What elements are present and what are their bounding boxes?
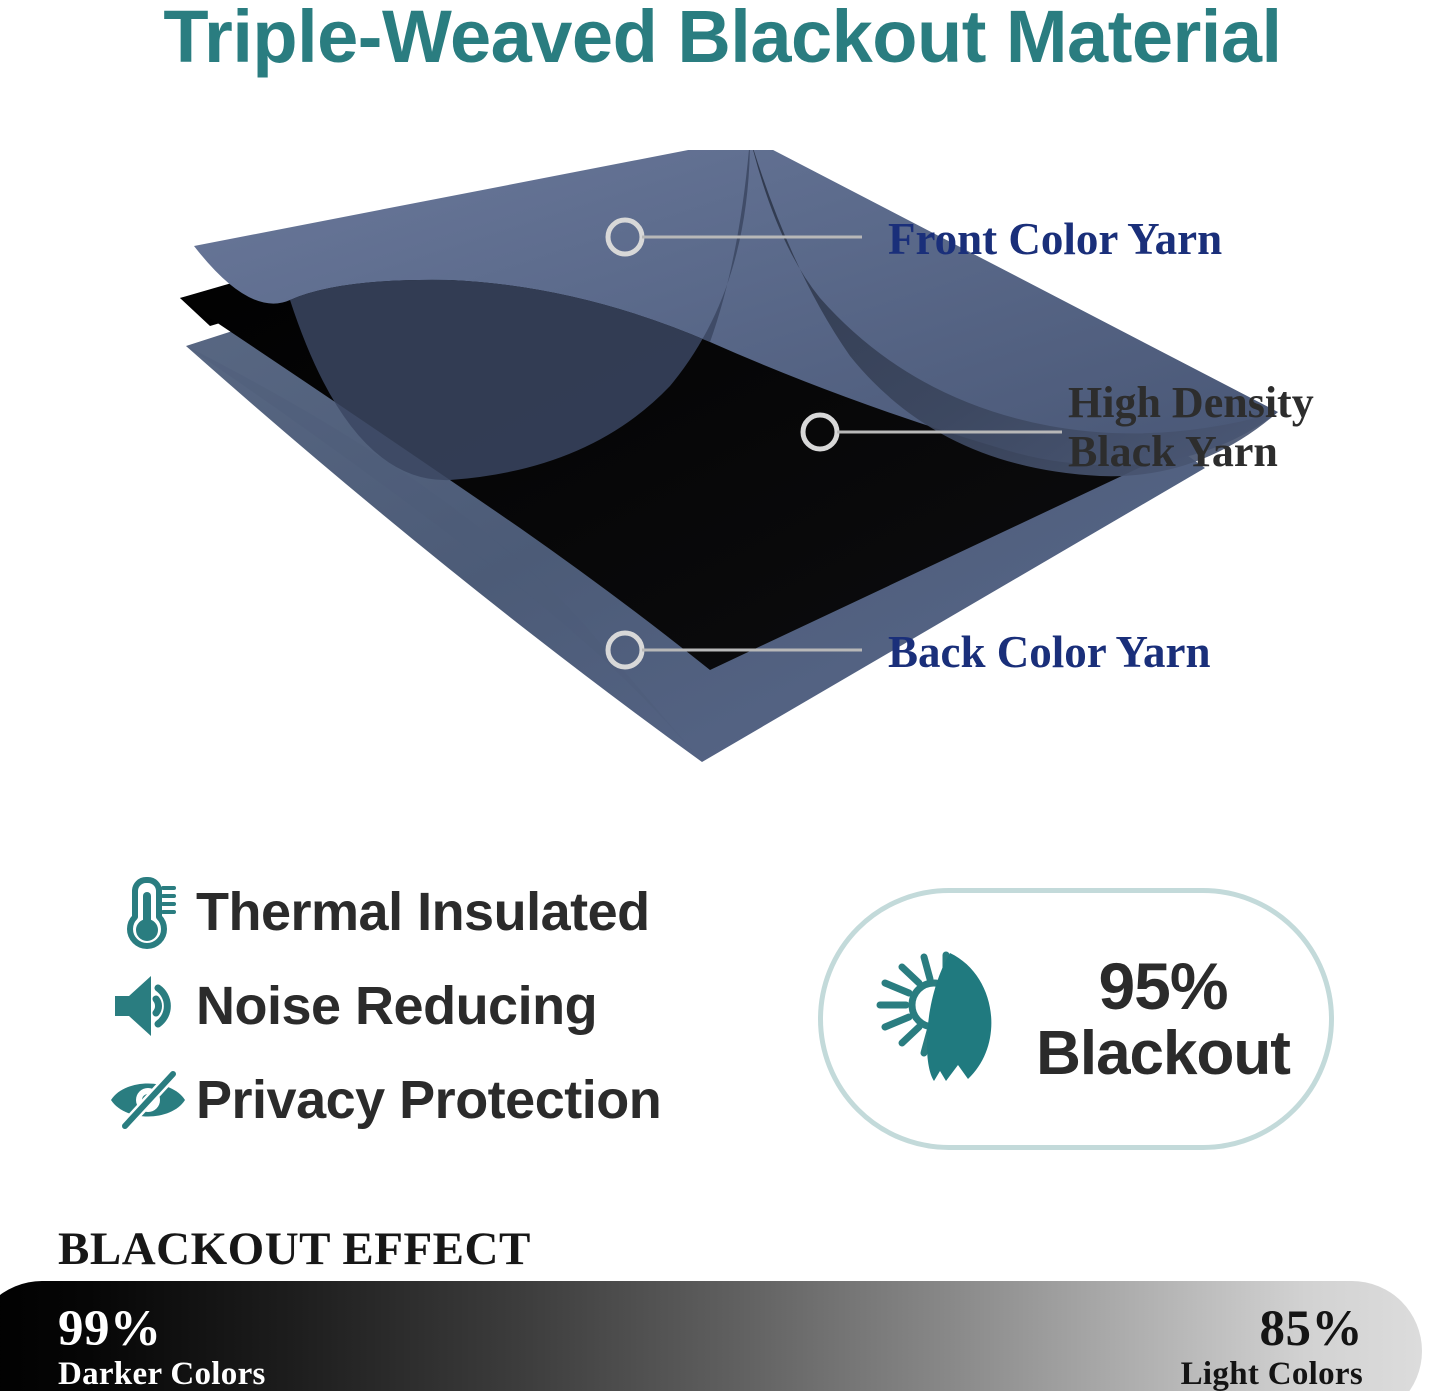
feature-label: Privacy Protection xyxy=(196,1069,661,1131)
blackout-effect-heading: BLACKOUT EFFECT xyxy=(58,1222,531,1276)
eye-off-icon xyxy=(100,1068,196,1132)
feature-privacy-protection: Privacy Protection xyxy=(100,1056,780,1144)
badge-percent: 95% xyxy=(1098,952,1227,1021)
feature-label: Thermal Insulated xyxy=(196,881,650,943)
badge-text-group: 95% Blackout xyxy=(1036,952,1290,1086)
feature-label: Noise Reducing xyxy=(196,975,597,1037)
blackout-effect-darker-colors: 99% Darker Colors xyxy=(58,1302,266,1391)
speaker-sound-icon xyxy=(100,974,196,1038)
label-line-2: Black Yarn xyxy=(1068,427,1314,476)
infographic-page: Triple-Weaved Blackout Material xyxy=(0,0,1445,1391)
darker-colors-label: Darker Colors xyxy=(58,1356,266,1391)
light-colors-percent: 85% xyxy=(1181,1302,1363,1356)
badge-word: Blackout xyxy=(1036,1021,1290,1086)
page-title: Triple-Weaved Blackout Material xyxy=(0,0,1445,77)
feature-noise-reducing: Noise Reducing xyxy=(100,962,780,1050)
blackout-percentage-badge: 95% Blackout xyxy=(818,888,1334,1150)
blackout-effect-light-colors: 85% Light Colors xyxy=(1181,1302,1363,1391)
thermometer-icon xyxy=(100,874,196,950)
light-colors-label: Light Colors xyxy=(1181,1356,1363,1391)
label-line-1: High Density xyxy=(1068,378,1314,427)
label-high-density-black-yarn: High Density Black Yarn xyxy=(1068,378,1314,477)
feature-thermal-insulated: Thermal Insulated xyxy=(100,868,780,956)
darker-colors-percent: 99% xyxy=(58,1302,266,1356)
feature-list: Thermal Insulated Noise Reducing xyxy=(100,868,780,1150)
sun-blocked-icon xyxy=(862,939,1032,1099)
label-back-color-yarn: Back Color Yarn xyxy=(888,627,1211,677)
label-front-color-yarn: Front Color Yarn xyxy=(888,214,1222,264)
